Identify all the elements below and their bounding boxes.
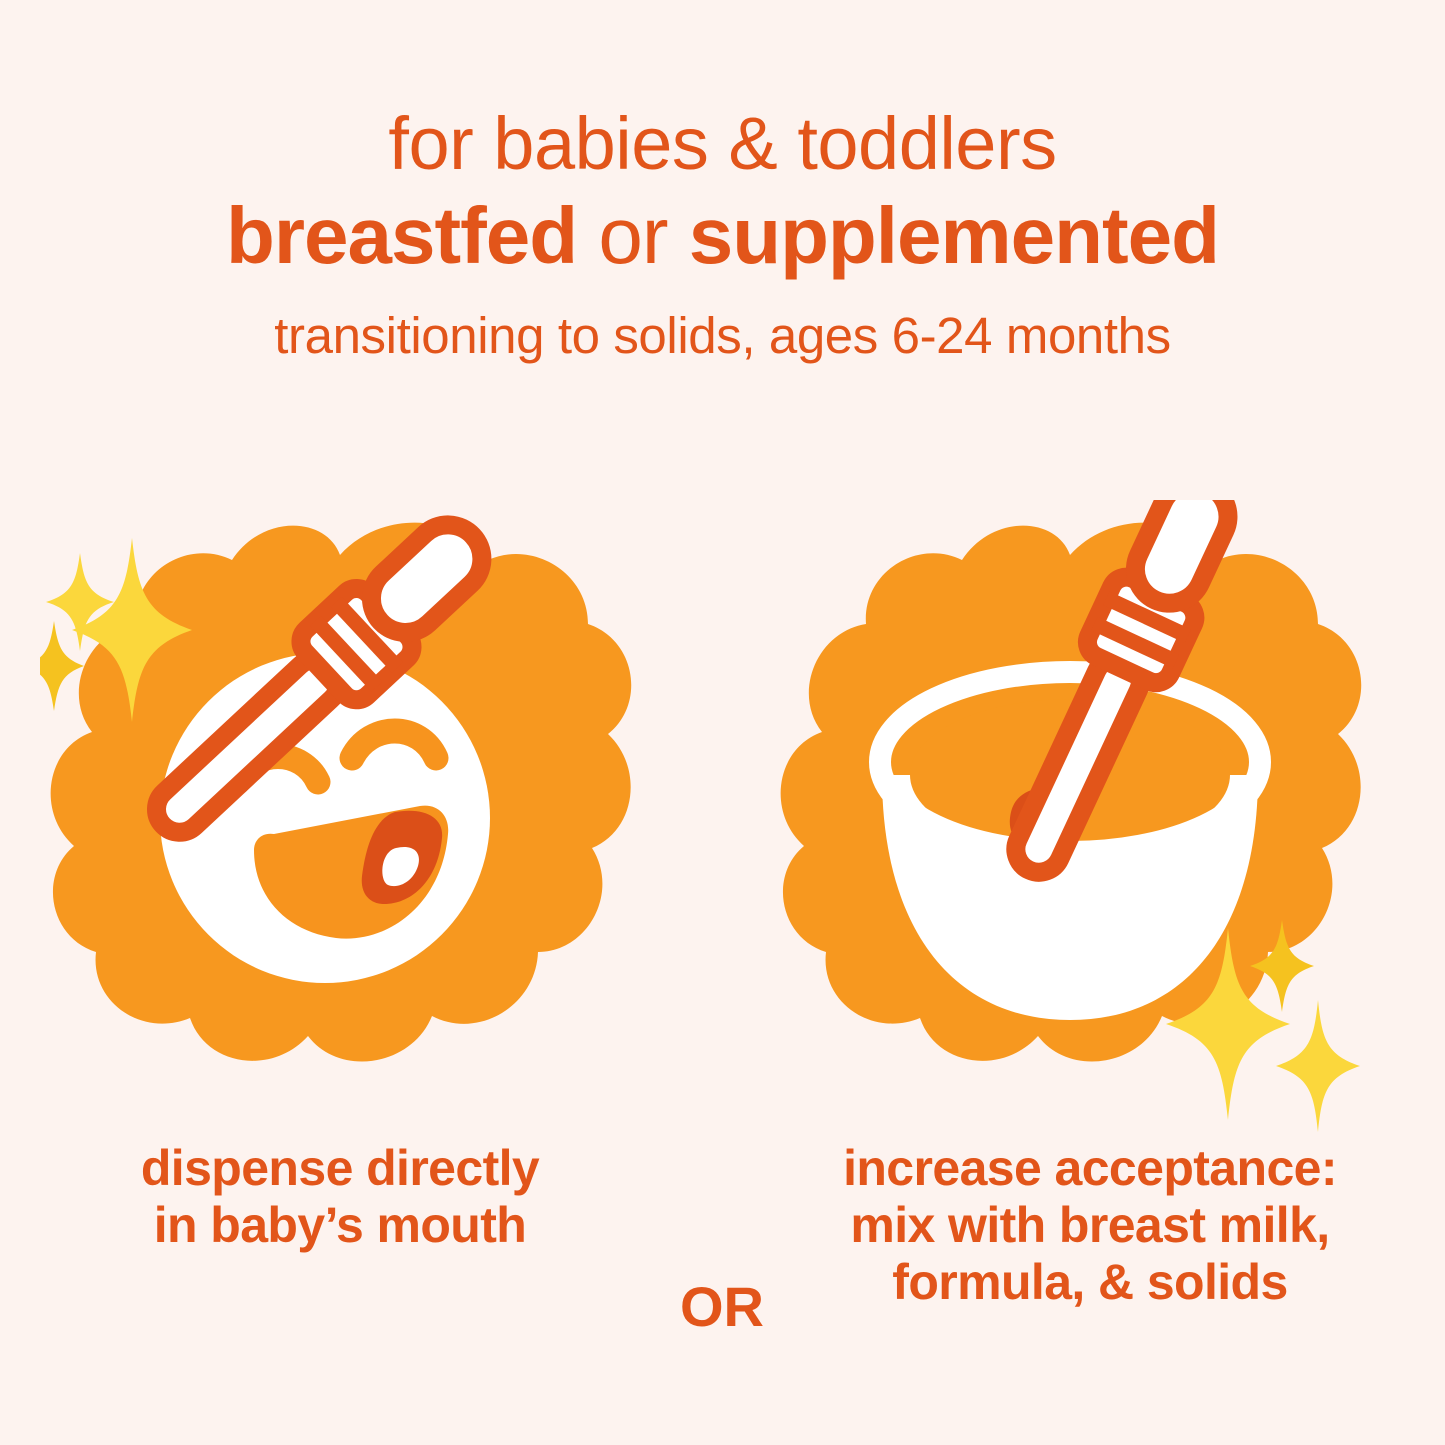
headline-word-supplemented: supplemented — [689, 191, 1219, 280]
headline-word-or: or — [577, 191, 689, 280]
caption-mix-into-food: increase acceptance: mix with breast mil… — [780, 1140, 1400, 1311]
illustration-row: OR — [0, 500, 1445, 1140]
option-illustration-mix-into-food — [770, 500, 1390, 1140]
caption-line: formula, & solids — [780, 1254, 1400, 1311]
headline-line-1: for babies & toddlers — [0, 100, 1445, 188]
caption-line: dispense directly — [30, 1140, 650, 1197]
headline-subtitle: transitioning to solids, ages 6-24 month… — [0, 306, 1445, 366]
caption-line: mix with breast milk, — [780, 1197, 1400, 1254]
caption-line: in baby’s mouth — [30, 1197, 650, 1254]
headline-line-2: breastfed or supplemented — [0, 188, 1445, 284]
caption-dispense-directly: dispense directly in baby’s mouth — [30, 1140, 650, 1254]
promo-graphic: for babies & toddlers breastfed or suppl… — [0, 0, 1445, 1445]
sparkle-medium-icon — [1276, 1000, 1360, 1132]
header-block: for babies & toddlers breastfed or suppl… — [0, 100, 1445, 366]
caption-line: increase acceptance: — [780, 1140, 1400, 1197]
headline-word-breastfed: breastfed — [226, 191, 577, 280]
option-illustration-dispense-directly — [40, 500, 660, 1140]
